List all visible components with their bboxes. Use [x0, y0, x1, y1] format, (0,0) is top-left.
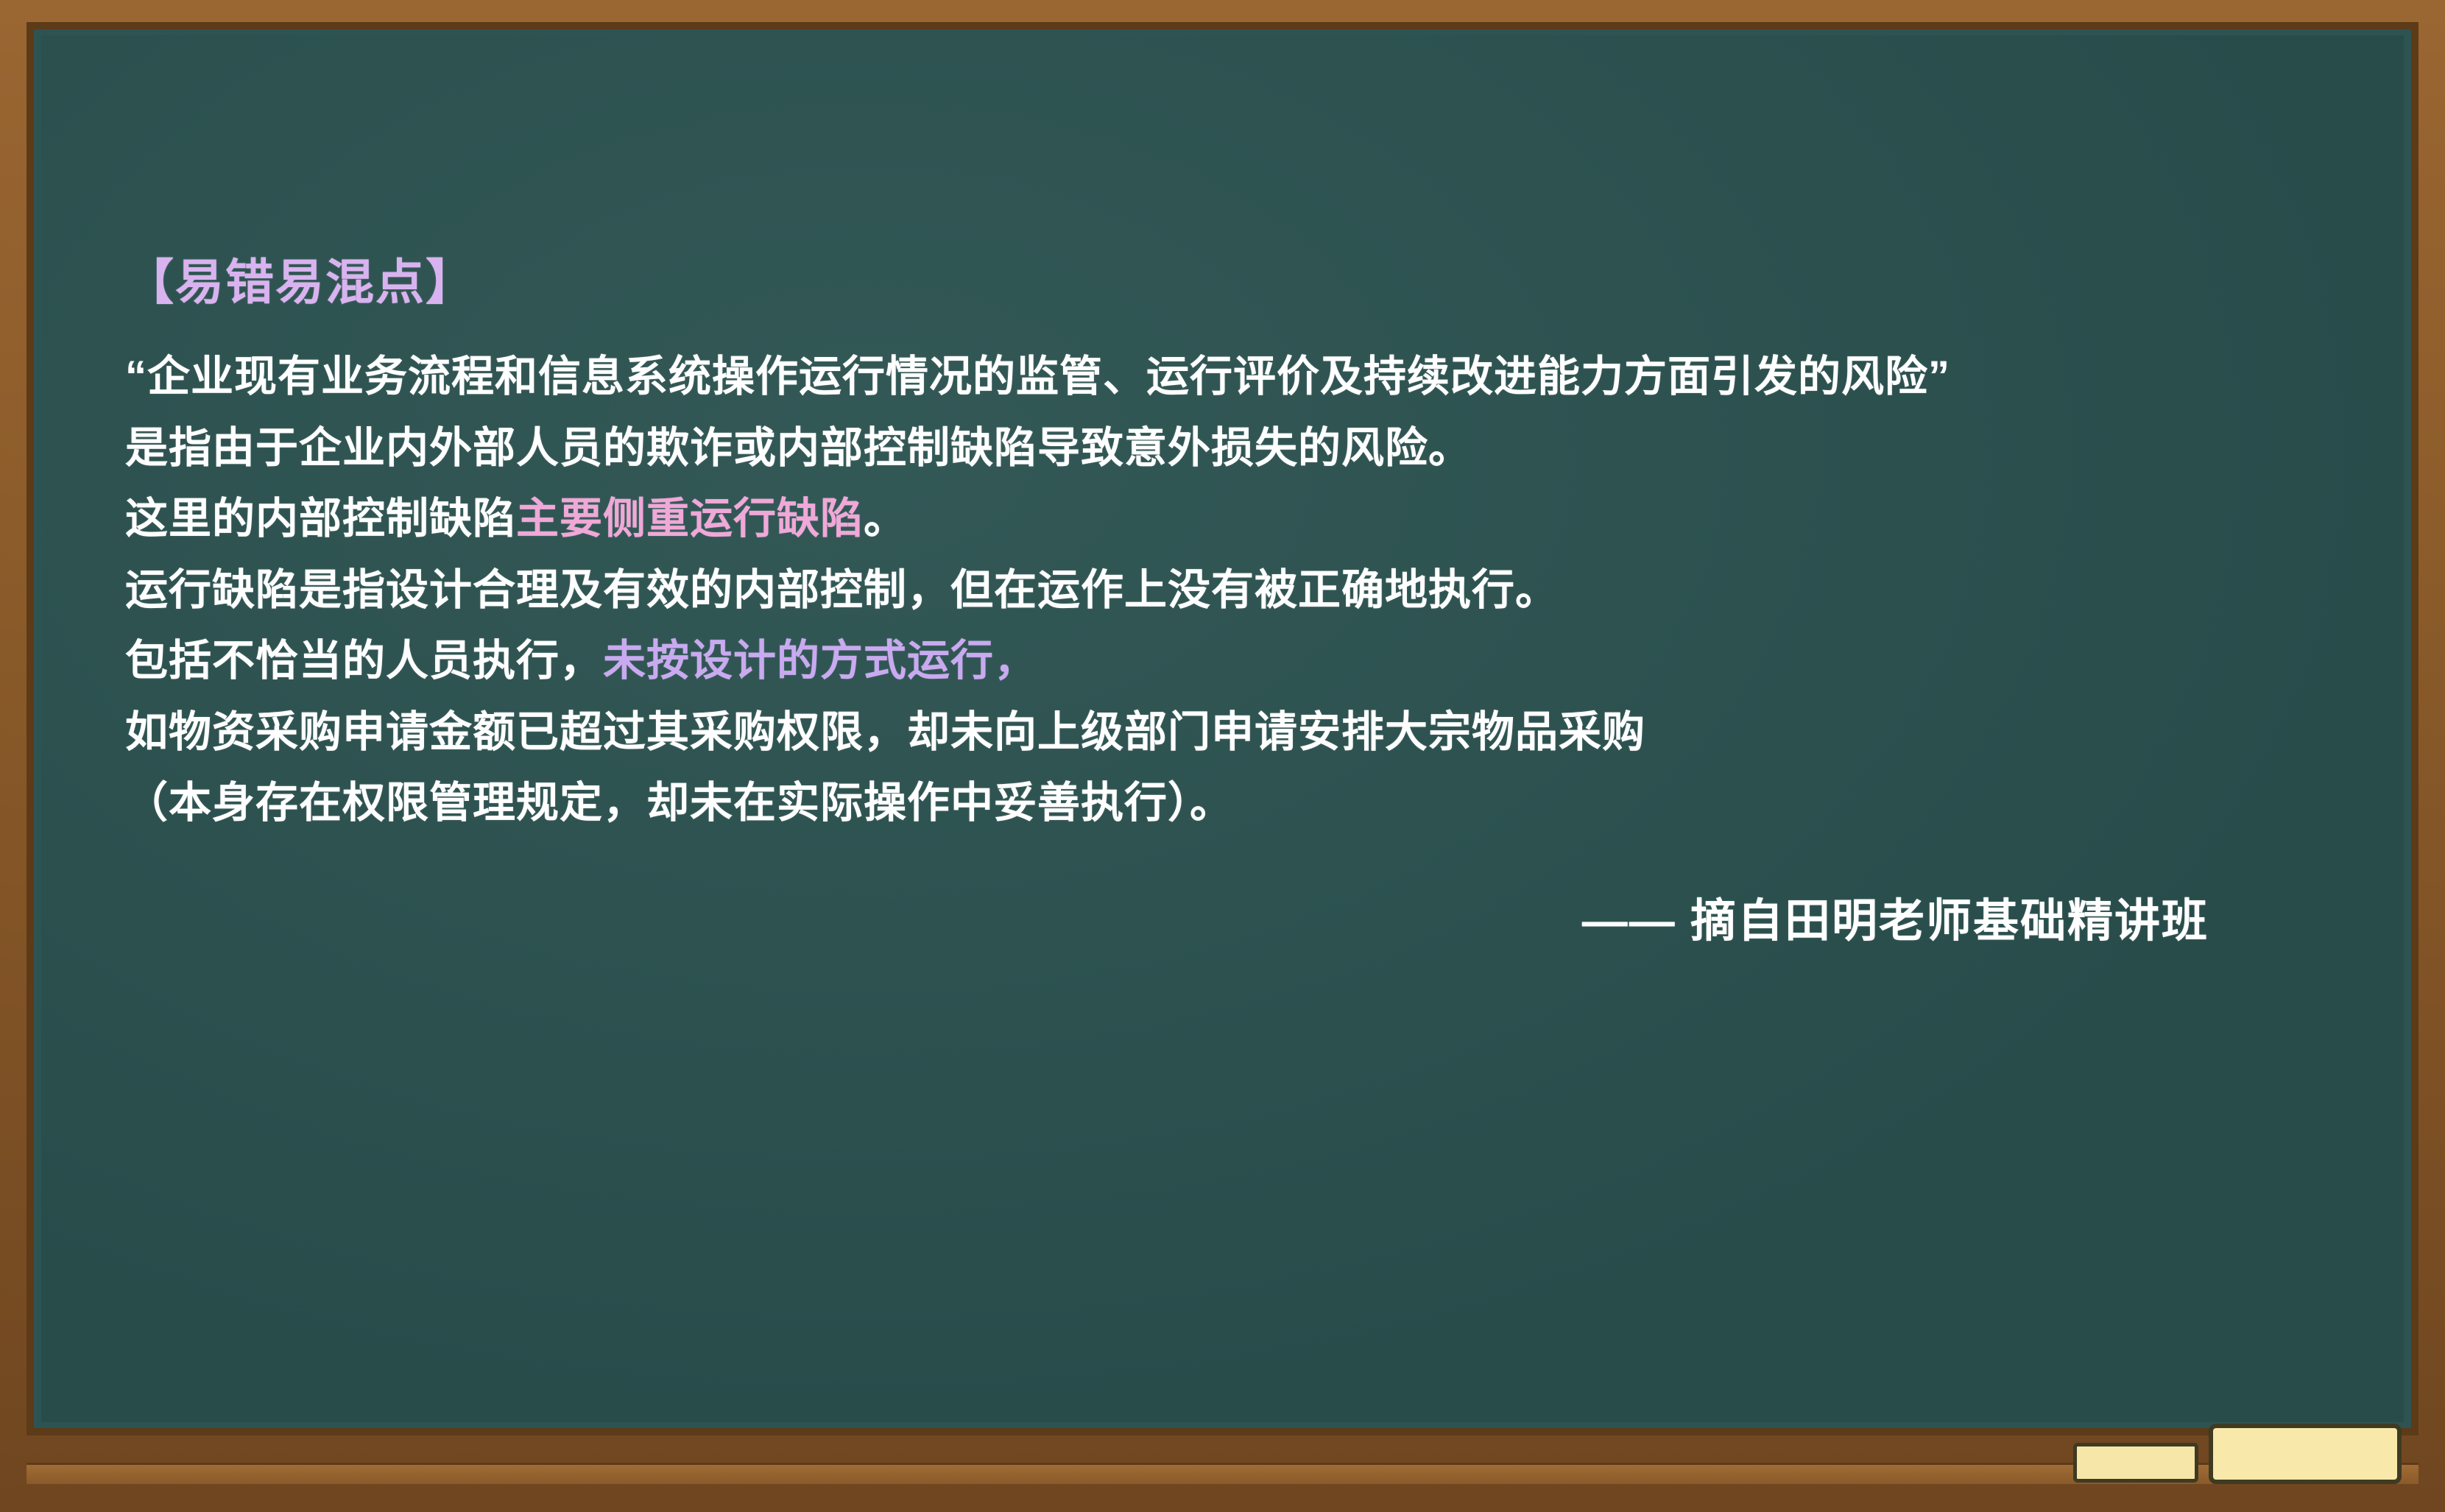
eraser-small-icon: [2073, 1443, 2198, 1483]
text-segment: 这里的内部控制缺陷: [125, 495, 516, 543]
text-line: 如物资采购申请金额已超过其采购权限，却未向上级部门申请安排大宗物品采购: [125, 704, 2282, 761]
text-segment: “企业现有业务流程和信息系统操作运行情况的监管、运行评价及持续改进能力方面引发的…: [125, 353, 1950, 400]
text-line: （本身存在权限管理规定，却未在实际操作中妥善执行）。: [125, 775, 2282, 832]
text-segment: 是指由于企业内外部人员的欺诈或内部控制缺陷导致意外损失的风险。: [125, 424, 1472, 472]
text-segment: （本身存在权限管理规定，却未在实际操作中妥善执行）。: [125, 779, 1233, 827]
text-line-list: “企业现有业务流程和信息系统操作运行情况的监管、运行评价及持续改进能力方面引发的…: [125, 349, 2282, 832]
text-segment: 未按设计的方式运行，: [603, 637, 1037, 685]
text-line: 这里的内部控制缺陷主要侧重运行缺陷。: [125, 491, 2282, 548]
eraser-large-icon: [2209, 1424, 2402, 1484]
blackboard-slide: 【易错易混点】 “企业现有业务流程和信息系统操作运行情况的监管、运行评价及持续改…: [0, 0, 2445, 1512]
text-segment: 。: [864, 495, 907, 543]
chalk-tray: [0, 1435, 2445, 1512]
board-text-content: 【易错易混点】 “企业现有业务流程和信息系统操作运行情况的监管、运行评价及持续改…: [125, 243, 2282, 950]
text-segment: 包括不恰当的人员执行，: [125, 637, 603, 685]
text-line: 是指由于企业内外部人员的欺诈或内部控制缺陷导致意外损失的风险。: [125, 420, 2282, 477]
text-line: 包括不恰当的人员执行，未按设计的方式运行，: [125, 633, 2282, 690]
page-title: 【易错易混点】: [125, 243, 2282, 314]
attribution-line: —— 摘自田明老师基础精讲班: [125, 883, 2282, 950]
text-line: “企业现有业务流程和信息系统操作运行情况的监管、运行评价及持续改进能力方面引发的…: [125, 349, 2282, 406]
text-segment: 如物资采购申请金额已超过其采购权限，却未向上级部门申请安排大宗物品采购: [125, 708, 1645, 756]
text-segment: 运行缺陷是指设计合理及有效的内部控制，但在运作上没有被正确地执行。: [125, 566, 1559, 614]
text-line: 运行缺陷是指设计合理及有效的内部控制，但在运作上没有被正确地执行。: [125, 562, 2282, 619]
text-segment: 主要侧重运行缺陷: [516, 495, 864, 543]
tray-ledge: [27, 1463, 2418, 1484]
